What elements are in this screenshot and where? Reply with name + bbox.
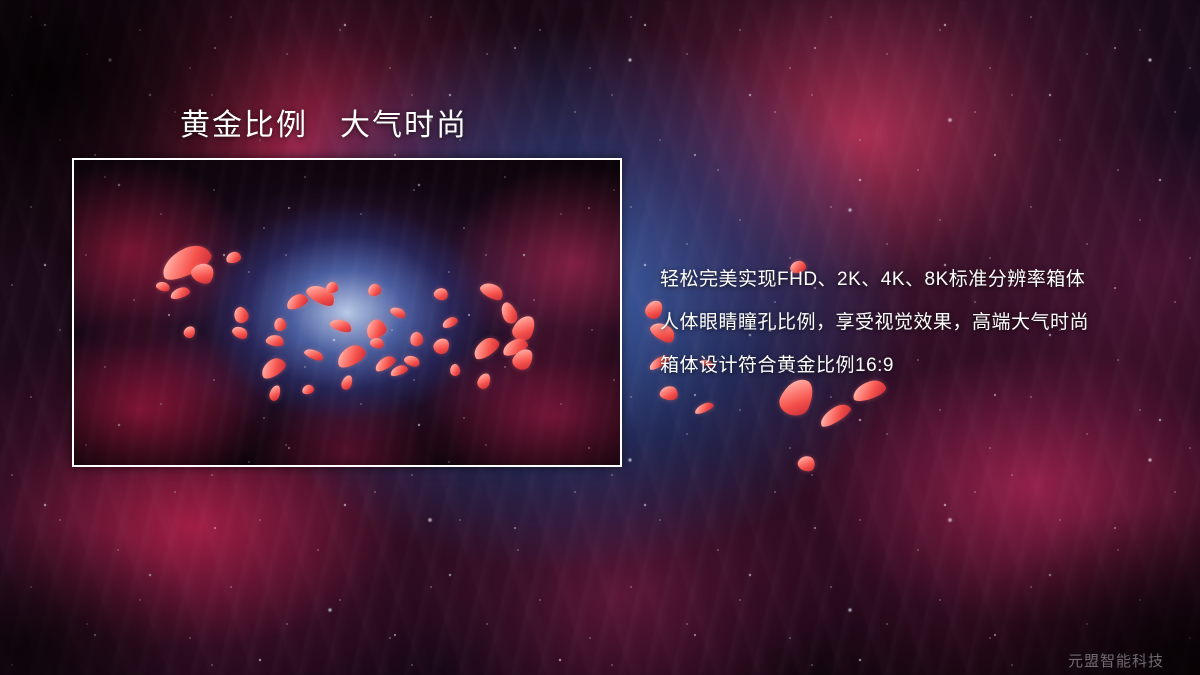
framed-vignette [74,160,620,465]
framed-image [74,160,620,465]
body-line-2: 人体眼睛瞳孔比例，享受视觉效果，高端大气时尚 [660,301,1180,344]
image-frame [72,158,622,467]
watermark-logo: 元盟智能科技 [1068,650,1164,671]
body-text-block: 轻松完美实现FHD、2K、4K、8K标准分辨率箱体 人体眼睛瞳孔比例，享受视觉效… [660,258,1180,387]
body-line-1: 轻松完美实现FHD、2K、4K、8K标准分辨率箱体 [660,258,1180,301]
body-line-3: 箱体设计符合黄金比例16:9 [660,344,1180,387]
presentation-slide: 黄金比例 大气时尚 轻松完美实现FHD、2K、4K、8K标准分辨率箱体 人体眼睛… [0,0,1200,675]
slide-title: 黄金比例 大气时尚 [180,100,468,144]
